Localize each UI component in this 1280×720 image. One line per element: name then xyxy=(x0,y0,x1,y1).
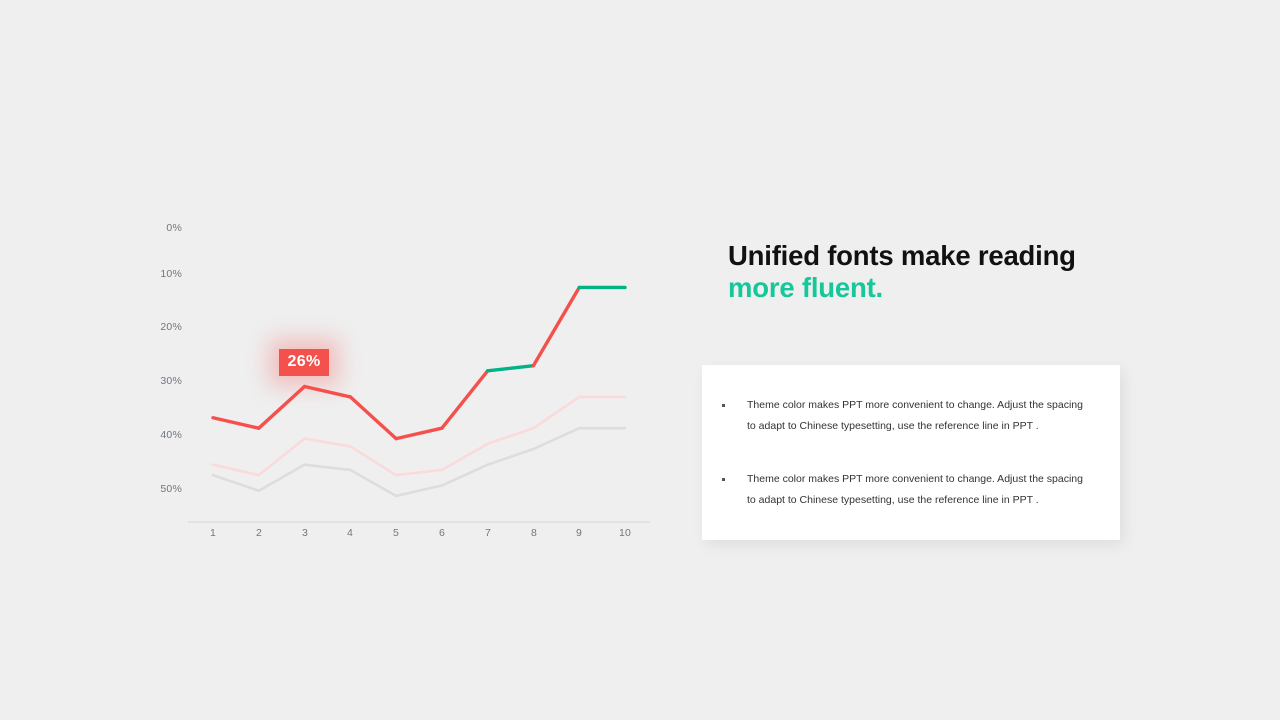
chart-plot-area xyxy=(150,235,670,545)
chart-line-segment xyxy=(213,418,259,428)
x-tick-5: 5 xyxy=(382,527,410,539)
chart-line-segment xyxy=(350,397,396,439)
x-tick-3: 3 xyxy=(291,527,319,539)
x-tick-8: 8 xyxy=(520,527,548,539)
page-title: Unified fonts make reading more fluent. xyxy=(728,240,1148,304)
bullet-text: Theme color makes PPT more convenient to… xyxy=(747,469,1092,511)
headline-block: Unified fonts make reading more fluent. xyxy=(728,240,1148,304)
chart-line-segment xyxy=(396,486,442,496)
chart-line-segment xyxy=(305,439,351,447)
x-tick-6: 6 xyxy=(428,527,456,539)
chart-line-segment xyxy=(533,397,579,428)
chart-line-segment xyxy=(442,371,488,428)
x-tick-2: 2 xyxy=(245,527,273,539)
chart-line-segment xyxy=(213,475,259,491)
x-tick-9: 9 xyxy=(565,527,593,539)
x-tick-7: 7 xyxy=(474,527,502,539)
slide-canvas: 50% 40% 30% 20% 10% 0% 1 2 3 4 5 6 7 8 9… xyxy=(0,0,1280,720)
chart-line-segment xyxy=(350,446,396,475)
chart-line-segment xyxy=(396,470,442,475)
list-item: Theme color makes PPT more convenient to… xyxy=(722,395,1096,437)
line-chart: 50% 40% 30% 20% 10% 0% 1 2 3 4 5 6 7 8 9… xyxy=(150,235,670,545)
chart-line-segment xyxy=(350,470,396,496)
chart-line-segment xyxy=(305,465,351,470)
x-tick-1: 1 xyxy=(199,527,227,539)
chart-line-segment xyxy=(442,444,488,470)
headline-line-2: more fluent. xyxy=(728,272,1148,304)
x-tick-4: 4 xyxy=(336,527,364,539)
chart-line-segment xyxy=(442,465,488,486)
chart-line-segment xyxy=(533,287,579,365)
bullet-dot-icon xyxy=(722,478,725,481)
bullet-dot-icon xyxy=(722,404,725,407)
chart-line-segment xyxy=(533,428,579,449)
chart-line-segment xyxy=(259,387,305,429)
chart-line-segment xyxy=(488,428,534,444)
headline-line-1: Unified fonts make reading xyxy=(728,240,1148,272)
y-tick-0: 0% xyxy=(148,222,182,234)
chart-line-segment xyxy=(305,387,351,397)
list-item: Theme color makes PPT more convenient to… xyxy=(722,469,1096,511)
chart-line-segment xyxy=(488,449,534,465)
data-label-badge: 26% xyxy=(279,349,330,376)
chart-line-segment xyxy=(488,366,534,371)
bullet-list: Theme color makes PPT more convenient to… xyxy=(722,395,1096,543)
info-card: Theme color makes PPT more convenient to… xyxy=(702,365,1120,540)
x-tick-10: 10 xyxy=(611,527,639,539)
chart-line-segment xyxy=(396,428,442,438)
chart-line-segment xyxy=(213,465,259,475)
bullet-text: Theme color makes PPT more convenient to… xyxy=(747,395,1092,437)
